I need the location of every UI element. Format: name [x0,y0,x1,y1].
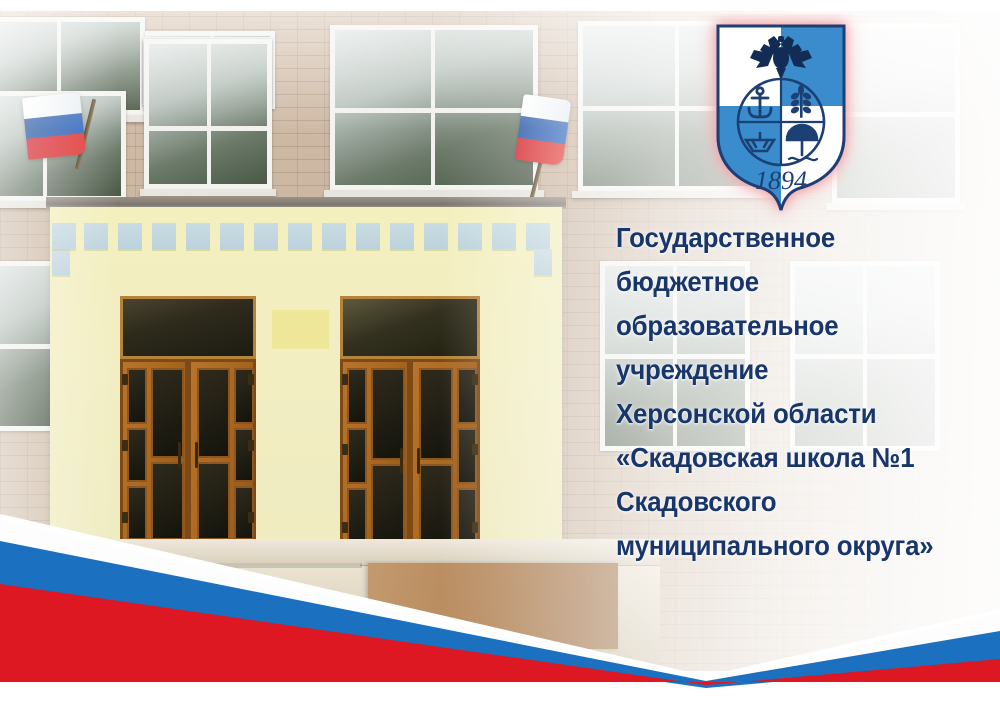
porch-shadow [60,563,362,568]
porch-step-2 [20,621,370,643]
porch-slab [100,539,660,565]
title-line-8: муниципального округа» [616,524,966,568]
window-upper-8 [330,25,538,190]
door-leaf-right-a [340,359,410,561]
porch-pillar [368,563,618,649]
window-upper-center [144,39,272,189]
title-line-4: учреждение [616,348,966,392]
title-line-7: Скадовского [616,480,966,524]
door-leaf-left-a [120,359,188,546]
emblem-year: 1894 [755,166,807,195]
title-line-2: бюджетное [616,260,966,304]
door-transom-left [120,296,256,359]
title-line-3: образовательное [616,304,966,348]
title-line-6: «Скадовская школа №1 [616,436,966,480]
banner-root: 1894 Государственное бюджетное образоват… [0,0,1000,706]
door-leaf-right-b [410,359,480,561]
title-line-1: Государственное [616,216,966,260]
porch-step-1 [40,599,370,621]
institution-title: Государственное бюджетное образовательно… [616,216,988,568]
door-leaf-left-b [188,359,256,546]
window-sill-center [140,189,276,196]
title-line-5: Херсонской области [616,392,966,436]
coat-of-arms-skadovsk: 1894 [694,14,868,226]
entrance-door-right [340,296,480,561]
door-transom-right [340,296,480,359]
entrance-door-left [120,296,256,546]
window-sill-8 [324,190,544,197]
decorative-tile-row [52,223,560,253]
wall-notice-patch [272,310,329,349]
